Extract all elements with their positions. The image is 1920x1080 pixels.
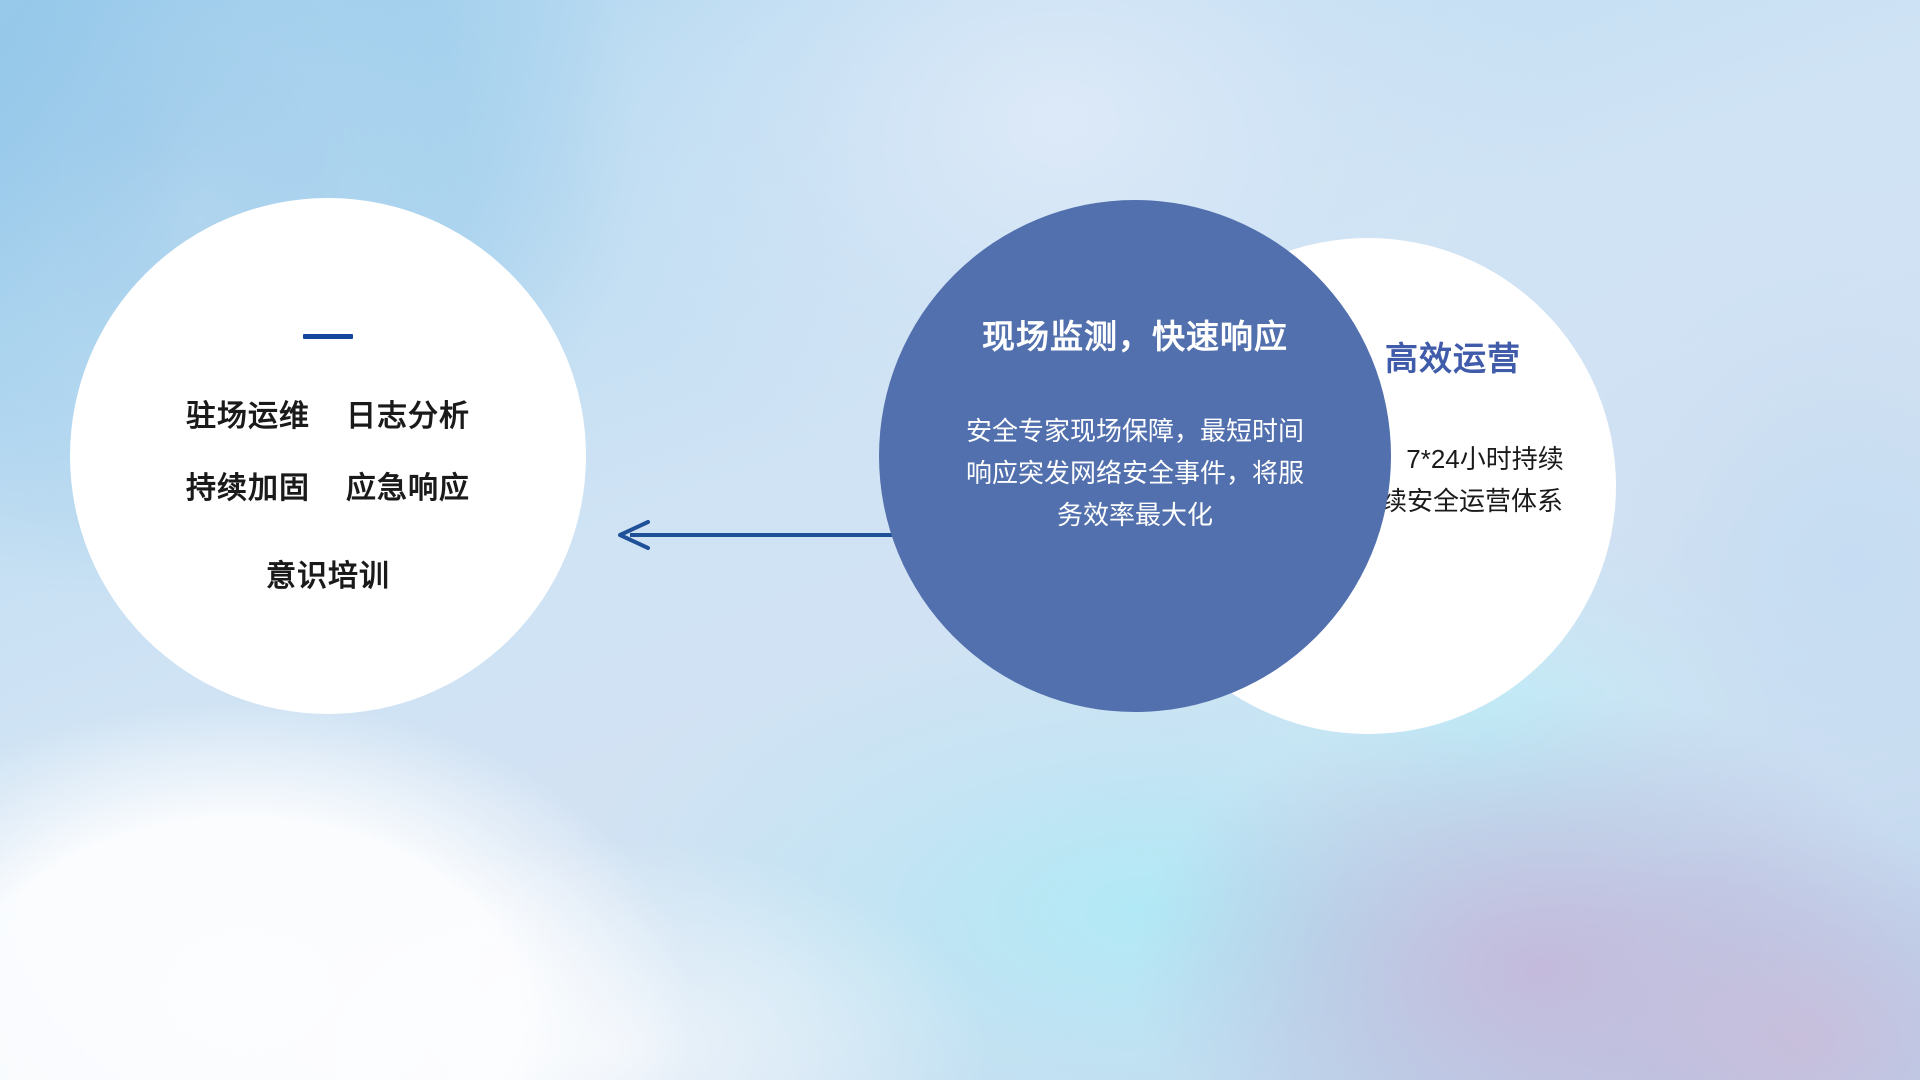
onsite-monitoring-circle[interactable]: 现场监测，快速响应 安全专家现场保障，最短时间响应突发网络安全事件，将服务效率最… [879,200,1391,712]
capability-row-1: 驻场运维 日志分析 [186,391,470,435]
onsite-monitoring-title: 现场监测，快速响应 [982,310,1288,358]
capability-row-2: 持续加固 应急响应 [186,463,470,507]
flow-arrow-left [608,520,898,550]
left-circle-content: 驻场运维 日志分析 持续加固 应急响应 意识培训 [70,334,586,595]
capability-label: 持续加固 [186,463,310,507]
onsite-monitoring-body: 安全专家现场保障，最短时间响应突发网络安全事件，将服务效率最大化 [965,410,1305,536]
capability-label-single: 意识培训 [266,551,390,595]
capability-label: 应急响应 [346,463,470,507]
capability-label: 驻场运维 [186,391,310,435]
divider-dash-icon [303,334,353,339]
capability-label: 日志分析 [346,391,470,435]
slide-canvas: 驻场运维 日志分析 持续加固 应急响应 意识培训 持续防护，高效运营 远程专家团… [0,0,1920,1080]
driving-capabilities-circle[interactable]: 驻场运维 日志分析 持续加固 应急响应 意识培训 [70,198,586,714]
arrow-icon [608,520,898,550]
